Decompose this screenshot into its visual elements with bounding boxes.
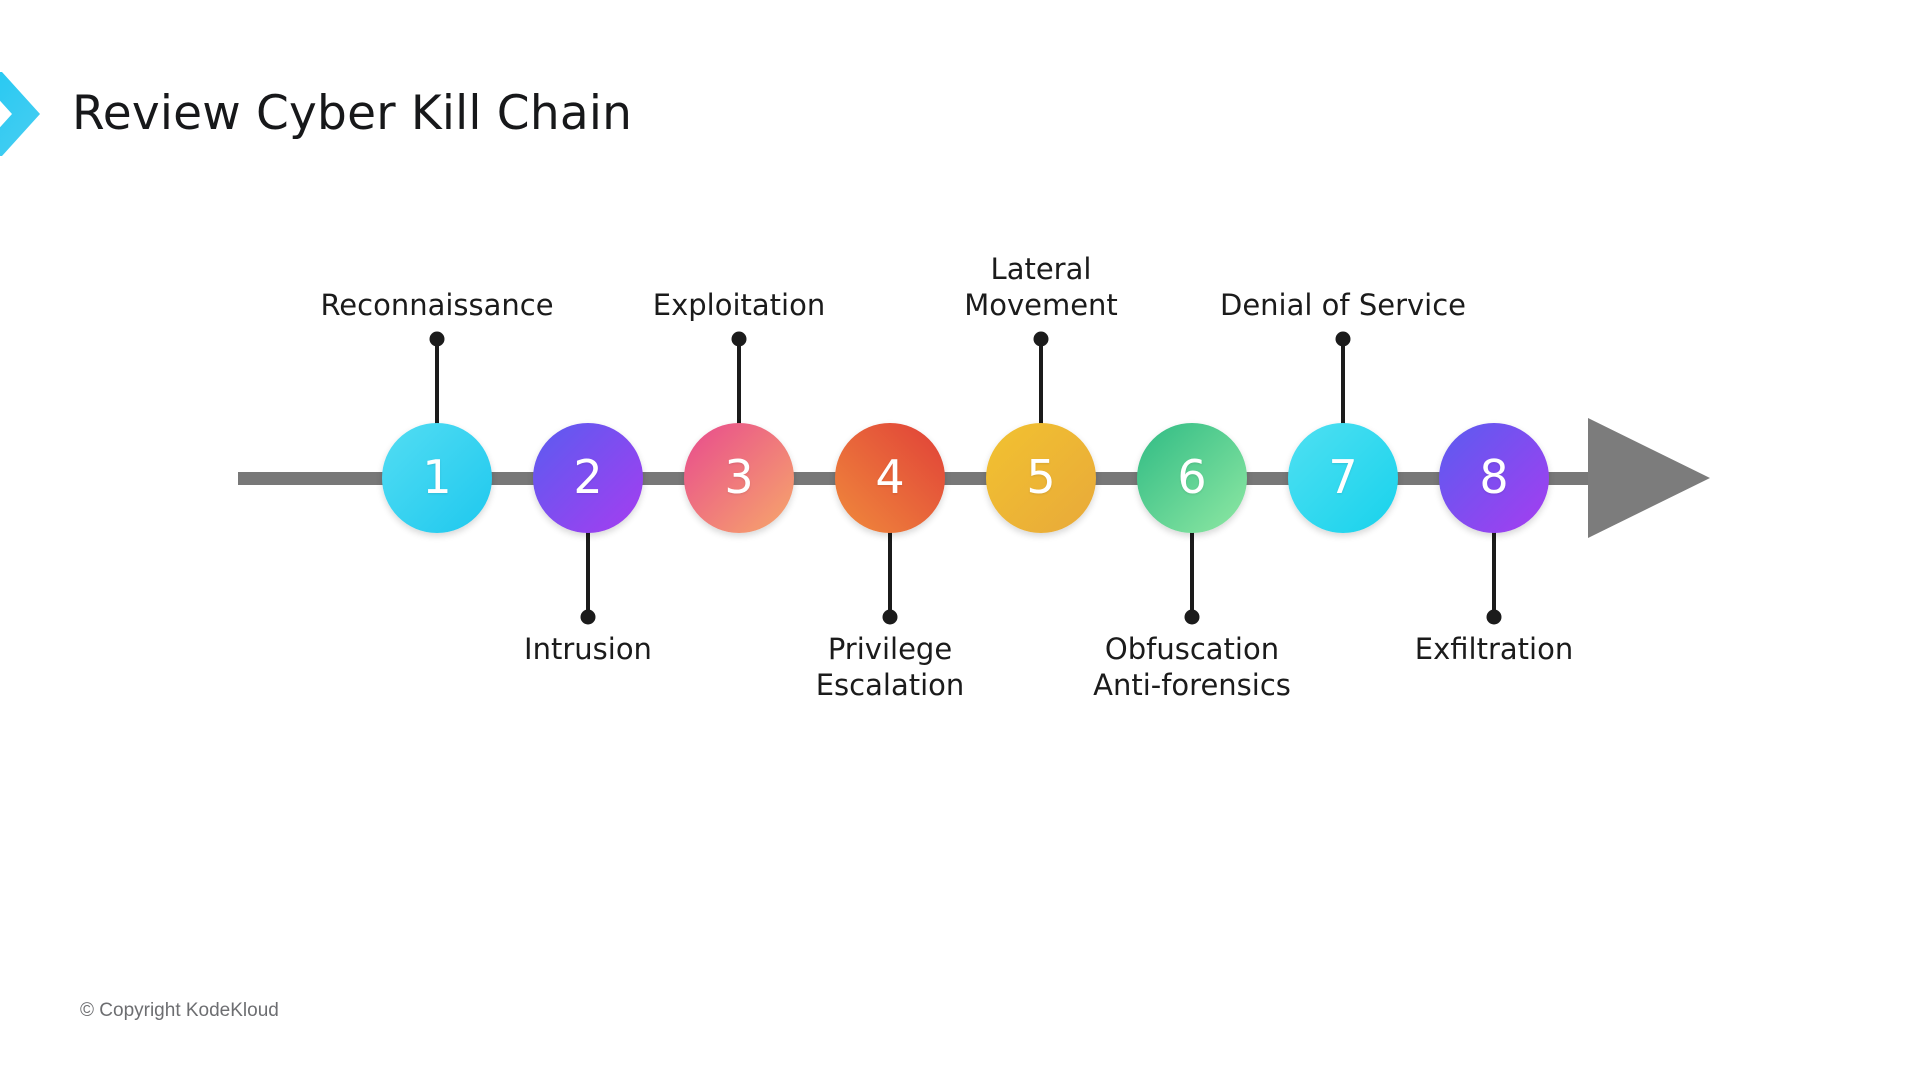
- leader-dot: [732, 332, 747, 347]
- stage-label-8: Exfiltration: [1415, 631, 1573, 667]
- stage-label-1: Reconnaissance: [320, 287, 553, 323]
- chain-node-number: 8: [1479, 454, 1508, 500]
- footer-copyright: © Copyright KodeKloud: [80, 1000, 279, 1022]
- stage-label-5: Lateral Movement: [964, 251, 1118, 323]
- leader-dot: [1034, 332, 1049, 347]
- chain-node-3[interactable]: 3: [684, 423, 794, 533]
- timeline-arrow-head-icon: [1588, 418, 1710, 538]
- cyber-kill-chain-diagram: 12345678 ReconnaissanceIntrusionExploita…: [0, 0, 1920, 1080]
- leader-dot: [430, 332, 445, 347]
- stage-label-2: Intrusion: [524, 631, 652, 667]
- chain-node-7[interactable]: 7: [1288, 423, 1398, 533]
- chain-node-number: 7: [1328, 454, 1357, 500]
- stage-label-7: Denial of Service: [1220, 287, 1466, 323]
- leader-dot: [581, 610, 596, 625]
- chain-node-number: 2: [573, 454, 602, 500]
- leader-dot: [883, 610, 898, 625]
- stage-label-6: Obfuscation Anti-forensics: [1093, 631, 1291, 703]
- leader-dot: [1185, 610, 1200, 625]
- leader-dot: [1336, 332, 1351, 347]
- chain-node-2[interactable]: 2: [533, 423, 643, 533]
- timeline-axis-and-leaders: [0, 0, 1920, 1080]
- chain-node-number: 6: [1177, 454, 1206, 500]
- chain-node-number: 3: [724, 454, 753, 500]
- leader-dot: [1487, 610, 1502, 625]
- chain-node-number: 4: [875, 454, 904, 500]
- chain-node-number: 5: [1026, 454, 1055, 500]
- chain-node-4[interactable]: 4: [835, 423, 945, 533]
- chain-node-1[interactable]: 1: [382, 423, 492, 533]
- chain-node-6[interactable]: 6: [1137, 423, 1247, 533]
- chain-node-5[interactable]: 5: [986, 423, 1096, 533]
- chain-node-8[interactable]: 8: [1439, 423, 1549, 533]
- chain-node-number: 1: [422, 454, 451, 500]
- stage-label-3: Exploitation: [653, 287, 825, 323]
- stage-label-4: Privilege Escalation: [816, 631, 965, 703]
